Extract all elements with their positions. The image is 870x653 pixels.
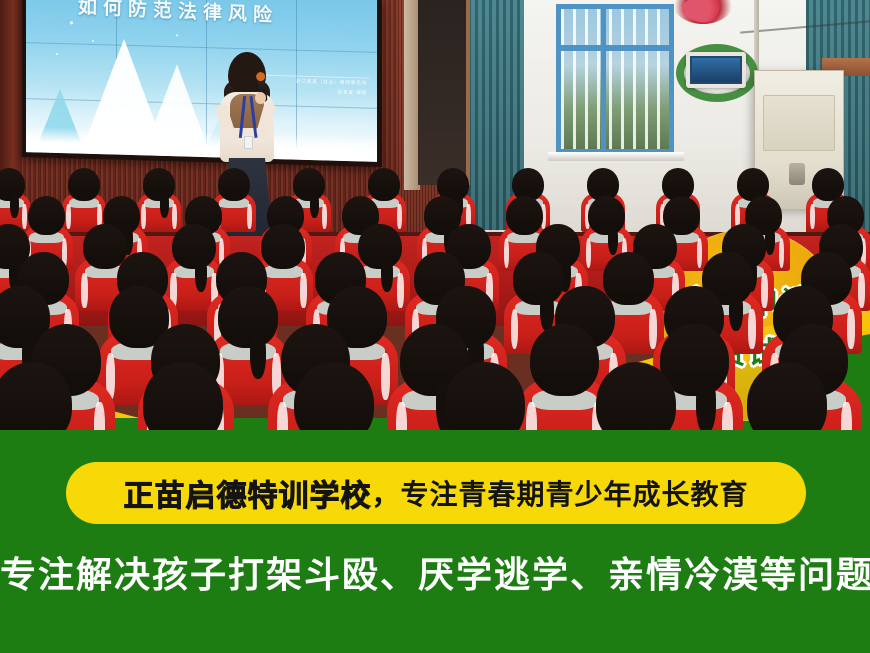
school-tagline: ，专注青春期青少年成长教育 — [371, 473, 748, 513]
lecture-photo: 浙江某某（台云）律师事务所 张某某 律师 如何防范法律风险 — [0, 0, 870, 430]
student-head — [0, 362, 72, 430]
student-head — [596, 362, 677, 430]
student-head — [588, 196, 625, 235]
school-name-pill: 正苗启德特训学校，专注青春期青少年成长教育 — [66, 462, 806, 524]
student-head — [747, 362, 828, 430]
uniform-stripe — [94, 402, 105, 430]
student-ponytail — [250, 329, 266, 379]
uniform-stripe — [397, 273, 404, 308]
problem-statement: 专注解决孩子打架斗殴、厌学逃学、亲情冷漠等问题 — [0, 546, 870, 598]
student-head — [294, 362, 375, 430]
uniform-stripe — [322, 204, 327, 230]
student-ponytail — [160, 191, 169, 218]
student-head — [143, 168, 175, 201]
green-message-panel: 正苗启德特训学校，专注青春期青少年成长教育 专注解决孩子打架斗殴、厌学逃学、亲情… — [0, 418, 870, 653]
student-figure — [580, 362, 692, 430]
student-figure — [731, 362, 843, 430]
uniform-stripe — [247, 204, 252, 230]
student-figure — [429, 362, 541, 430]
student-figure — [0, 362, 88, 430]
student-head — [143, 362, 224, 430]
student-ponytail — [608, 223, 618, 255]
school-name: 正苗启德特训学校 — [123, 471, 371, 515]
audience — [0, 0, 870, 430]
student-head — [445, 362, 526, 430]
student-ponytail — [696, 374, 715, 430]
student-ponytail — [10, 191, 19, 218]
student-figure — [127, 362, 239, 430]
student-ponytail — [195, 255, 207, 292]
student-figure — [278, 362, 390, 430]
promo-banner: 浙江某某（台云）律师事务所 张某某 律师 如何防范法律风险 — [0, 0, 870, 653]
uniform-stripe — [396, 402, 407, 430]
uniform-stripe — [81, 273, 88, 308]
uniform-stripe — [748, 309, 756, 350]
